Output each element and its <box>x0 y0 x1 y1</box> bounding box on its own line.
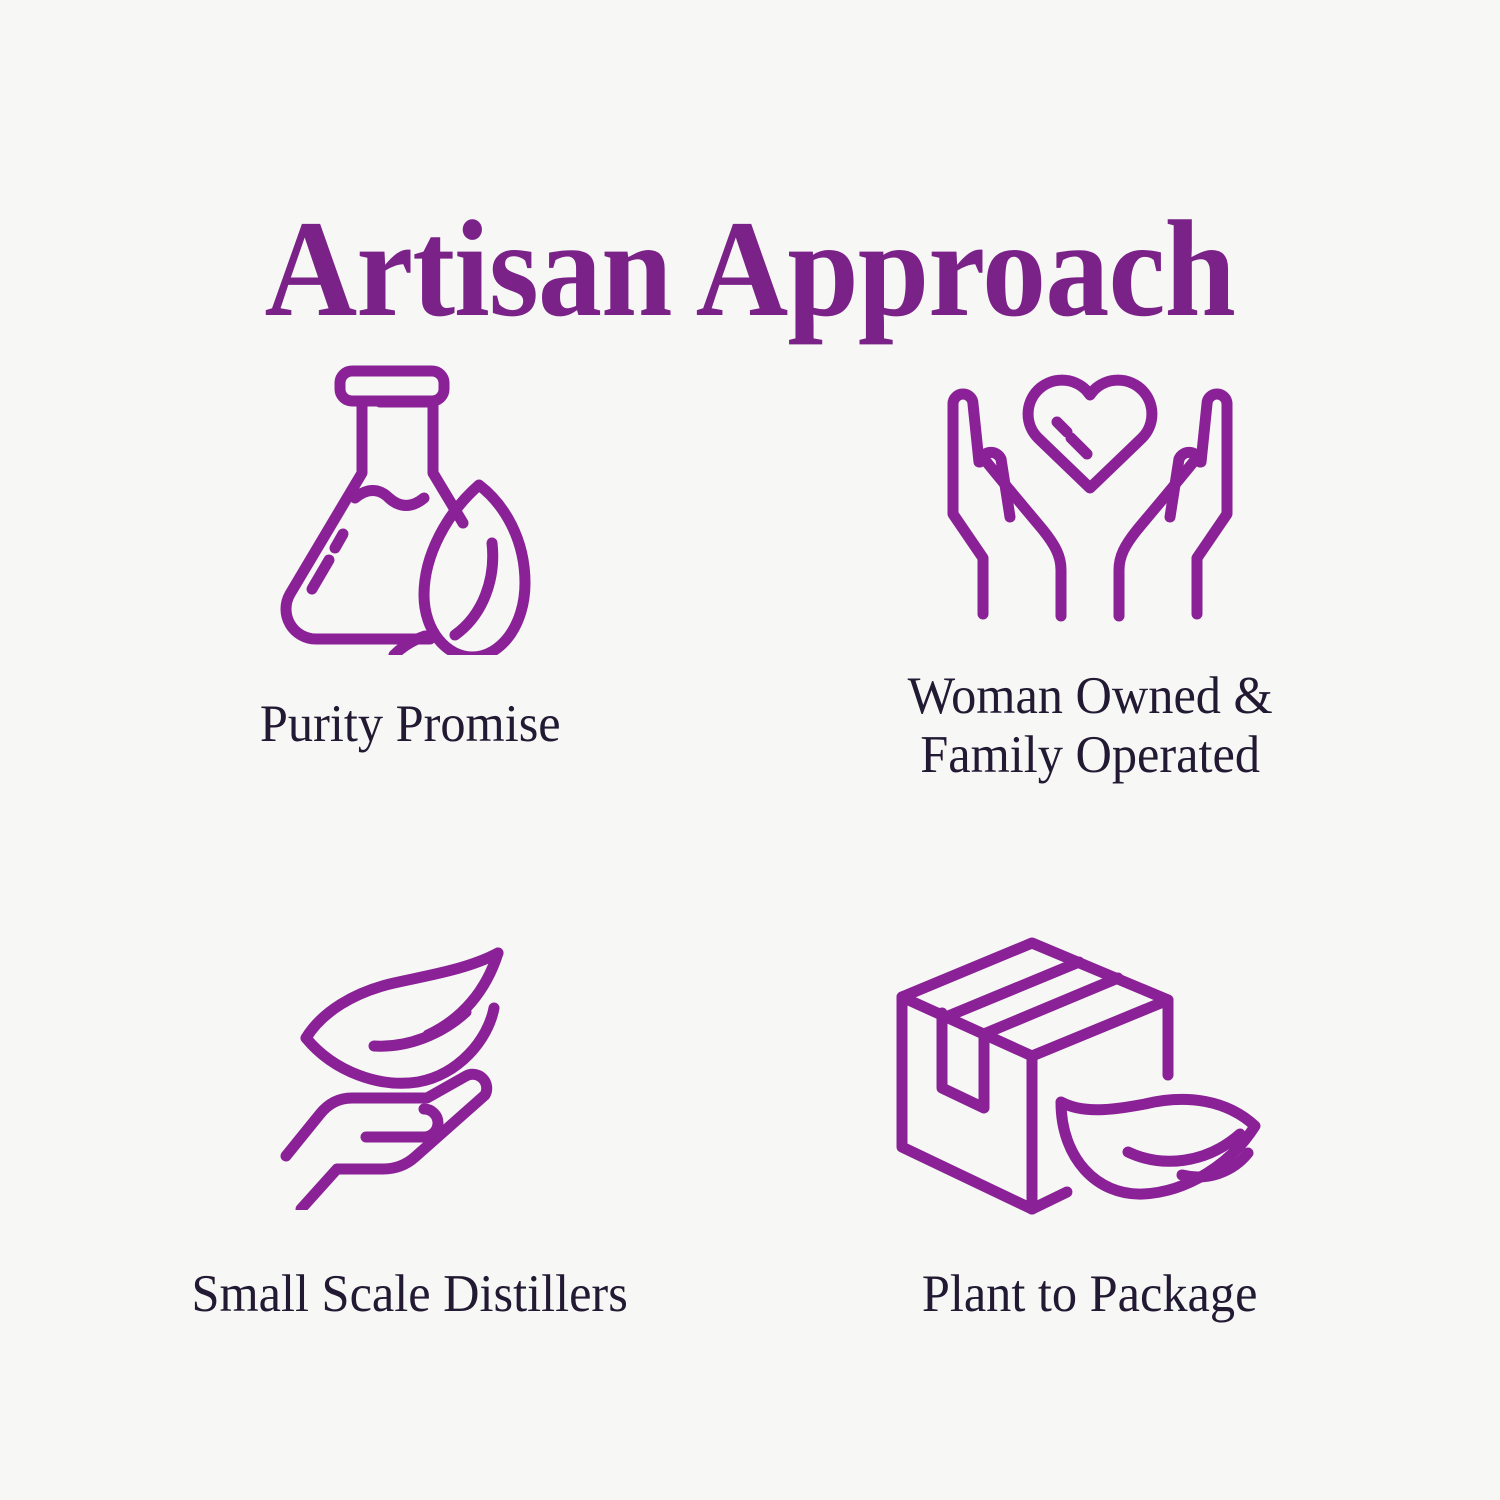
feature-item-small-scale-distillers: Small Scale Distillers <box>90 915 730 1435</box>
artisan-approach-panel: Artisan Approach <box>0 0 1500 1500</box>
page-title: Artisan Approach <box>265 200 1235 338</box>
feature-item-purity-promise: Purity Promise <box>90 345 730 865</box>
feature-label: Woman Owned & Family Operated <box>907 667 1272 786</box>
hands-heart-icon <box>925 345 1255 645</box>
feature-item-plant-to-package: Plant to Package <box>770 915 1410 1435</box>
flask-leaf-icon <box>270 345 550 665</box>
feature-label: Small Scale Distillers <box>192 1265 628 1324</box>
features-grid: Purity Promise <box>90 345 1410 1435</box>
feature-label: Plant to Package <box>922 1265 1258 1324</box>
feature-item-woman-owned: Woman Owned & Family Operated <box>770 345 1410 865</box>
hand-leaf-icon <box>280 915 540 1235</box>
box-leaf-icon <box>880 915 1300 1235</box>
feature-label: Purity Promise <box>260 695 561 754</box>
